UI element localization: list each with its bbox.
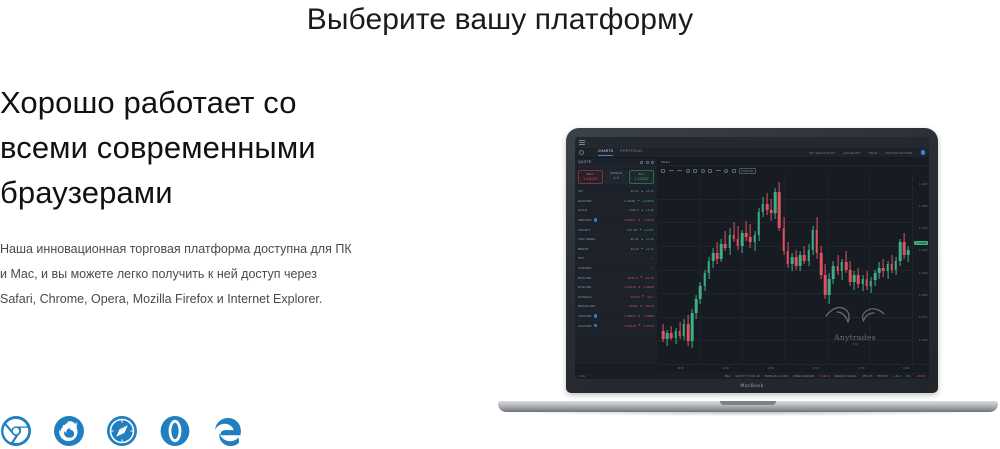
edit-icon[interactable] xyxy=(651,161,654,164)
watchlist-change: +0.21 xyxy=(646,189,654,193)
rectangle-icon[interactable] xyxy=(693,169,697,173)
app-statusbar: LIVE BALEQUITY 5 231.48MARGIN 1 108.6FRE… xyxy=(575,371,929,379)
watchlist-values: • xyxy=(649,267,654,270)
tab-portfolio[interactable]: PORTFOLIO xyxy=(620,149,642,156)
time-tick: 19:00 xyxy=(903,367,910,370)
clock-icon[interactable] xyxy=(640,161,643,164)
watchlist-row[interactable]: BTCUSD9231.5▼-61.20 xyxy=(575,273,657,283)
nav-item-help[interactable]: HELP xyxy=(868,151,877,155)
chart-panel: Chart EURU xyxy=(658,158,929,371)
trend-arrow-icon: ▲ xyxy=(637,199,640,202)
trend-arrow-icon: ▲ xyxy=(641,209,644,212)
body-paragraph: Наша инновационная торговая платформа до… xyxy=(0,237,352,312)
browser-icon-list xyxy=(0,415,244,447)
price-tick: 1.1120 xyxy=(919,183,927,186)
trend-arrow-icon: ▼ xyxy=(640,276,643,279)
price-tick: 1.0970 xyxy=(919,316,928,319)
app-body: QUOTE SELL 1.10429 xyxy=(575,158,929,371)
watchlist-symbol: AUDUSD xyxy=(578,324,592,328)
price-tick: 1.0945 xyxy=(919,339,928,342)
watchlist-symbol: GOLD xyxy=(578,208,587,212)
watchlist-change: +0.31 xyxy=(646,247,654,251)
text-tool-icon[interactable] xyxy=(708,169,712,173)
price-tick: 1.1070 xyxy=(919,227,928,230)
nav-tabs: CHARTS PORTFOLIO xyxy=(598,149,642,156)
ellipse-icon[interactable] xyxy=(686,169,690,173)
watchlist-values: • xyxy=(649,257,654,260)
watchlist-symbol: USD INDEX xyxy=(578,237,596,241)
ray-icon[interactable] xyxy=(716,170,721,171)
trend-arrow-icon: ▼ xyxy=(638,286,641,289)
watchlist-change: -0.0030 xyxy=(643,285,654,289)
platform-section: Выберите вашу платформу Хорошо работает … xyxy=(0,0,1000,449)
status-items: BALEQUITY 5 231.48MARGIN 1 108.6FREE MAR… xyxy=(725,374,925,378)
watchlist-values: 21582▼-52.04 xyxy=(629,304,654,308)
safari-icon[interactable] xyxy=(106,415,138,447)
watchlist-change: +3.80 xyxy=(646,208,654,212)
time-axis: 09:0011:0013:0015:0017:0019:00 xyxy=(658,364,929,371)
watchlist-row[interactable]: USDCAD1.36024▼-0.0080 xyxy=(575,312,657,322)
buy-value: 1.10437 xyxy=(634,177,648,181)
watchlist-row[interactable]: WTI• xyxy=(575,254,657,264)
filter-icon[interactable] xyxy=(646,161,649,164)
time-tick: 09:00 xyxy=(677,367,684,370)
watchlist-change: +0.0006 xyxy=(642,199,654,203)
watchlist-values: 9231.5▼-61.20 xyxy=(628,276,654,280)
watchlist-price: 1.36024 xyxy=(624,314,636,318)
watchlist-values: 1795.4▲+3.80 xyxy=(629,208,654,212)
crosshair-icon[interactable] xyxy=(661,169,665,173)
buy-label: BUY xyxy=(639,173,645,176)
status-item: +31.4 xyxy=(894,374,902,378)
watchlist-price: 9231.5 xyxy=(628,276,638,280)
watchlist-values: 43.12▲+0.31 xyxy=(631,247,654,251)
price-tick: 1.0995 xyxy=(919,294,928,297)
sell-box[interactable]: SELL 1.10429 xyxy=(578,170,603,184)
status-item: FREE MARGIN xyxy=(793,374,814,378)
watchlist-symbol: USDCAD xyxy=(578,314,592,318)
opera-icon[interactable] xyxy=(159,415,191,447)
sell-value: 1.10429 xyxy=(583,177,597,181)
watchlist-symbol: NASDAQ xyxy=(578,295,592,299)
watchlist-symbol: VIX xyxy=(578,189,583,193)
laptop-model-label: MacBook xyxy=(566,379,938,393)
edge-icon[interactable] xyxy=(212,415,244,447)
watchlist-row[interactable]: GBPUSD1.25147▼-0.0013 xyxy=(575,216,657,226)
watchlist-row[interactable]: ETHUSD1.00419▼-0.0030 xyxy=(575,283,657,293)
tab-charts[interactable]: CHARTS xyxy=(598,149,613,156)
trend-arrow-icon: ▼ xyxy=(638,324,641,327)
trend-arrow-icon: ▼ xyxy=(638,315,641,318)
watchlist-row[interactable]: AUDUSD0.69118▼-0.0119 xyxy=(575,321,657,331)
chart-symbol: Chart xyxy=(661,160,670,164)
watchlist-price: 1795.4 xyxy=(629,208,639,212)
quote-panel: SELL 1.10429 SPREAD 1.2 BUY 1.10437 xyxy=(575,167,657,187)
status-item: -18.02 xyxy=(916,374,925,378)
last-price-badge: 1.10429 xyxy=(914,241,928,245)
watchlist-symbol: WTI xyxy=(578,256,584,260)
chart-type-button[interactable]: EURUSD xyxy=(739,168,756,174)
laptop-screen: CHARTS PORTFOLIO MY WATCHLIST ACCOUNT HE… xyxy=(575,137,929,379)
fibonacci-icon[interactable] xyxy=(701,169,705,173)
laptop-mockup: CHARTS PORTFOLIO MY WATCHLIST ACCOUNT HE… xyxy=(498,114,998,424)
left-column: Хорошо работает со всеми современными бр… xyxy=(0,80,400,312)
watchlist-values: 107.48▲+0.042 xyxy=(627,228,654,232)
trend-arrow-icon: • xyxy=(651,257,652,260)
watchlist-change: -52.04 xyxy=(645,304,654,308)
watchlist-change: +0.042 xyxy=(644,228,654,232)
time-tick: 11:00 xyxy=(723,367,729,370)
sell-label: SELL xyxy=(587,173,594,176)
spread-label: SPREAD xyxy=(610,172,622,175)
watchlist-price: 96.21 xyxy=(631,237,639,241)
status-live-label: LIVE xyxy=(579,374,585,378)
watchlist-values: 1.25147▼-0.0013 xyxy=(624,218,654,222)
status-item: PROFIT xyxy=(878,374,889,378)
price-tick: 1.1045 xyxy=(919,249,928,252)
trend-arrow-icon: ▲ xyxy=(641,238,644,241)
buy-box[interactable]: BUY 1.10437 xyxy=(629,170,654,184)
laptop-lid: CHARTS PORTFOLIO MY WATCHLIST ACCOUNT HE… xyxy=(566,128,938,393)
watchlist-row[interactable]: NASDAQ10716▼-13.1 xyxy=(575,293,657,303)
status-item: MARGIN 1 108.6 xyxy=(765,374,788,378)
alert-dot-icon[interactable] xyxy=(594,314,598,318)
alert-dot-icon[interactable] xyxy=(594,324,598,328)
menu-icon[interactable] xyxy=(579,140,585,145)
sidebar-header-icons xyxy=(640,161,654,164)
watchlist-values: 0.69118▼-0.0119 xyxy=(625,324,654,328)
quote-sidebar: QUOTE SELL 1.10429 xyxy=(575,158,658,371)
watchlist-symbol: BTCUSD xyxy=(578,276,591,280)
candlestick-series xyxy=(661,177,910,354)
status-item: 4 122.9 xyxy=(819,374,829,378)
watchlist-row[interactable]: COPPER• xyxy=(575,264,657,274)
watchlist-symbol: USDJPY xyxy=(578,228,591,232)
alert-dot-icon[interactable] xyxy=(594,218,598,222)
watchlist-row[interactable]: EURUSD1.10429▲+0.0006 xyxy=(575,197,657,207)
watchlist-row[interactable]: GOLD1795.4▲+3.80 xyxy=(575,206,657,216)
watchlist-values: 13.41▲+0.21 xyxy=(631,189,654,193)
watchlist-symbol: COPPER xyxy=(578,266,592,270)
chrome-icon[interactable] xyxy=(0,415,32,447)
avatar[interactable] xyxy=(921,150,926,155)
trend-arrow-icon: ▼ xyxy=(642,295,645,298)
watchlist-price: 1.25147 xyxy=(624,218,636,222)
watchlist-price: 0.69118 xyxy=(625,324,637,328)
watchlist-price: 1.10429 xyxy=(623,199,635,203)
watchlist-symbol: EURUSD xyxy=(578,199,592,203)
plot-canvas[interactable]: Anytrades f x xyxy=(658,175,912,364)
watchlist-change: -61.20 xyxy=(645,276,654,280)
watchlist-symbol: BRENT xyxy=(578,247,589,251)
price-axis[interactable]: 1.11201.10951.10701.10451.10201.09951.09… xyxy=(912,175,929,364)
candle xyxy=(906,177,910,354)
watchlist-change: -0.0013 xyxy=(643,218,654,222)
price-tick: 1.1020 xyxy=(919,272,928,275)
trendline-icon[interactable] xyxy=(669,170,674,171)
app-navbar: CHARTS PORTFOLIO MY WATCHLIST ACCOUNT HE… xyxy=(575,148,929,158)
watchlist-symbol: GBPUSD xyxy=(578,218,592,222)
watchlist-change: -13.1 xyxy=(646,295,654,299)
time-tick: 17:00 xyxy=(858,367,865,370)
watchlist-values: 1.00419▼-0.0030 xyxy=(624,285,654,289)
status-item: BAL xyxy=(725,374,731,378)
price-tick: 1.1095 xyxy=(919,205,928,208)
nav-item-account[interactable]: ACCOUNT xyxy=(843,151,860,155)
page-title: Выберите вашу платформу xyxy=(0,0,1000,38)
spread-value: 1.2 xyxy=(613,176,619,180)
watchlist: VIX13.41▲+0.21EURUSD1.10429▲+0.0006GOLD1… xyxy=(575,187,657,364)
watchlist-change: -0.0119 xyxy=(643,324,654,328)
chart-toolbar: EURUSD xyxy=(658,166,929,175)
firefox-icon[interactable] xyxy=(53,415,85,447)
trend-arrow-icon: ▼ xyxy=(640,305,643,308)
watchlist-price: 21582 xyxy=(629,304,638,308)
status-item: P/L xyxy=(907,374,912,378)
status-item: EQUITY 5 231.48 xyxy=(735,374,759,378)
trend-arrow-icon: ▲ xyxy=(641,190,644,193)
sidebar-header: QUOTE xyxy=(575,158,657,167)
search-icon[interactable] xyxy=(579,150,584,155)
watchlist-price: 13.41 xyxy=(631,189,639,193)
laptop-base xyxy=(498,401,998,412)
watchlist-change: +0.09 xyxy=(646,237,654,241)
status-item: 487.2% xyxy=(862,374,872,378)
trend-arrow-icon: ▼ xyxy=(638,219,641,222)
watchlist-row[interactable]: VIX13.41▲+0.21 xyxy=(575,187,657,197)
headline: Хорошо работает со всеми современными бр… xyxy=(0,80,360,215)
trend-arrow-icon: ▲ xyxy=(641,247,644,250)
watchlist-change: -0.0080 xyxy=(643,314,654,318)
watchlist-price: 1.00419 xyxy=(624,285,636,289)
horizontal-line-icon[interactable] xyxy=(677,170,682,171)
sidebar-footer xyxy=(575,364,657,371)
nav-item-notifications[interactable]: NOTIFICATIONS xyxy=(886,151,913,155)
watchlist-values: 96.21▲+0.09 xyxy=(631,237,654,241)
watchlist-row[interactable]: NIKKEI 22521582▼-52.04 xyxy=(575,302,657,312)
watchlist-values: 10716▼-13.1 xyxy=(631,295,654,299)
time-tick: 15:00 xyxy=(813,367,820,370)
status-item: MARGIN LEVEL xyxy=(835,374,857,378)
time-tick: 13:00 xyxy=(768,367,775,370)
watchlist-price: 10716 xyxy=(631,295,640,299)
nav-right-items: MY WATCHLIST ACCOUNT HELP NOTIFICATIONS xyxy=(809,150,925,155)
watchlist-row[interactable]: USDJPY107.48▲+0.042 xyxy=(575,225,657,235)
chart-header: Chart xyxy=(658,158,929,166)
spread-box: SPREAD 1.2 xyxy=(605,170,628,184)
trend-arrow-icon: ▲ xyxy=(639,228,642,231)
app-titlebar xyxy=(575,137,929,148)
watchlist-values: 1.36024▼-0.0080 xyxy=(624,314,654,318)
nav-item-watchlist[interactable]: MY WATCHLIST xyxy=(809,151,835,155)
measure-icon[interactable] xyxy=(732,169,736,173)
watchlist-symbol: ETHUSD xyxy=(578,285,591,289)
watchlist-price: 43.12 xyxy=(631,247,639,251)
watchlist-price: 107.48 xyxy=(627,228,637,232)
sidebar-title: QUOTE xyxy=(578,160,592,164)
chart-plot: Anytrades f x 1.11201.10951.10701.10451.… xyxy=(658,175,929,364)
watchlist-symbol: NIKKEI 225 xyxy=(578,304,595,308)
magnet-icon[interactable] xyxy=(724,169,728,173)
watchlist-row[interactable]: BRENT43.12▲+0.31 xyxy=(575,245,657,255)
watchlist-values: 1.10429▲+0.0006 xyxy=(623,199,654,203)
watchlist-row[interactable]: USD INDEX96.21▲+0.09 xyxy=(575,235,657,245)
trend-arrow-icon: • xyxy=(651,267,652,270)
